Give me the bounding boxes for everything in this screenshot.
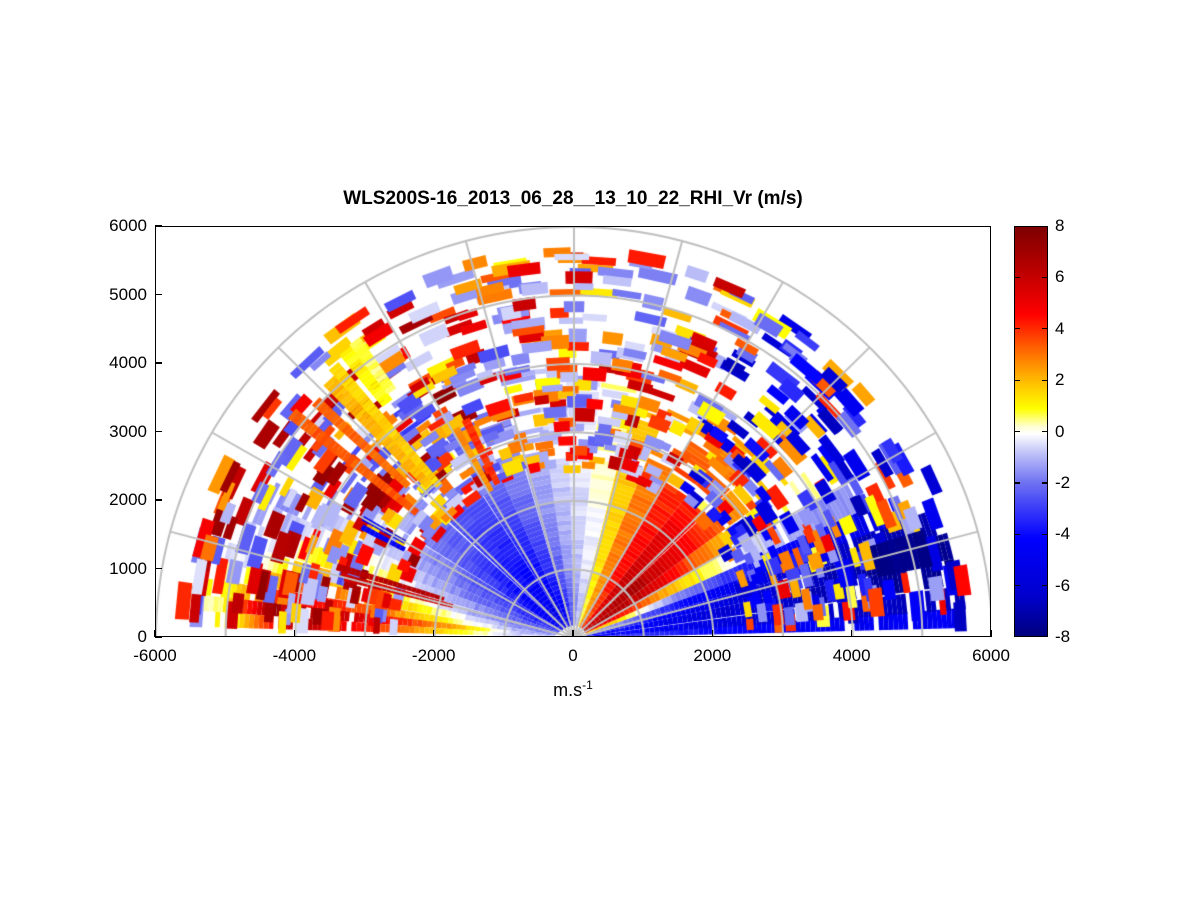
colorbar-tick-label: 6	[1055, 267, 1064, 287]
colorbar-tick-mark	[1014, 277, 1020, 278]
x-axis-label-text: m.s	[553, 680, 582, 700]
x-axis-tick-label: 6000	[972, 646, 1010, 666]
x-axis-tick-mark	[990, 630, 991, 637]
colorbar-tick-label: 8	[1055, 216, 1064, 236]
x-axis-tick-label: -6000	[133, 646, 176, 666]
x-axis-tick-mark	[294, 630, 295, 637]
colorbar-tick-label: -6	[1055, 576, 1070, 596]
x-axis-tick-label: -2000	[412, 646, 455, 666]
x-axis-tick-label: 0	[568, 646, 577, 666]
colorbar-tick-mark	[1042, 328, 1048, 329]
x-axis-tick-label: 2000	[693, 646, 731, 666]
colorbar-tick-mark	[1014, 482, 1020, 483]
colorbar-tick-mark	[1014, 534, 1020, 535]
colorbar-tick-label: 4	[1055, 319, 1064, 339]
colorbar-tick-mark	[1014, 431, 1020, 432]
colorbar-tick-mark	[1042, 277, 1048, 278]
x-axis-label-exponent: -1	[582, 678, 593, 692]
y-axis-tick-mark	[155, 431, 162, 432]
x-axis-tick-mark	[572, 630, 573, 637]
x-axis-label: m.s-1	[155, 678, 991, 701]
colorbar-tick-mark	[1042, 431, 1048, 432]
y-axis-tick-label: 0	[75, 627, 147, 647]
y-axis-tick-mark	[155, 362, 162, 363]
y-axis-tick-label: 1000	[75, 559, 147, 579]
y-axis-tick-label: 3000	[75, 422, 147, 442]
rhi-velocity-heatmap	[156, 227, 991, 637]
figure-canvas: WLS200S-16_2013_06_28__13_10_22_RHI_Vr (…	[0, 0, 1201, 901]
page-title: WLS200S-16_2013_06_28__13_10_22_RHI_Vr (…	[155, 188, 991, 210]
colorbar-tick-mark	[1014, 328, 1020, 329]
y-axis-tick-mark	[155, 294, 162, 295]
y-axis-tick-mark	[155, 499, 162, 500]
colorbar-tick-mark	[1042, 534, 1048, 535]
y-axis-tick-label: 6000	[75, 216, 147, 236]
x-axis-tick-mark	[433, 630, 434, 637]
colorbar-tick-label: -2	[1055, 473, 1070, 493]
x-axis-tick-mark	[712, 630, 713, 637]
x-axis-tick-label: 4000	[833, 646, 871, 666]
x-axis-tick-mark	[154, 630, 155, 637]
y-axis-tick-label: 4000	[75, 353, 147, 373]
colorbar-tick-label: -4	[1055, 524, 1070, 544]
colorbar-tick-mark	[1042, 585, 1048, 586]
y-axis-tick-mark	[155, 636, 162, 637]
colorbar-tick-mark	[1042, 482, 1048, 483]
y-axis-tick-label: 5000	[75, 285, 147, 305]
colorbar-tick-label: -8	[1055, 627, 1070, 647]
colorbar-tick-label: 2	[1055, 370, 1064, 390]
colorbar-tick-mark	[1014, 585, 1020, 586]
y-axis-tick-mark	[155, 225, 162, 226]
polar-plot-axes[interactable]	[155, 226, 991, 637]
colorbar-tick-label: 0	[1055, 422, 1064, 442]
x-axis-tick-mark	[851, 630, 852, 637]
y-axis-tick-label: 2000	[75, 490, 147, 510]
y-axis-tick-mark	[155, 568, 162, 569]
colorbar-tick-mark	[1042, 380, 1048, 381]
colorbar-tick-mark	[1014, 380, 1020, 381]
x-axis-tick-label: -4000	[273, 646, 316, 666]
